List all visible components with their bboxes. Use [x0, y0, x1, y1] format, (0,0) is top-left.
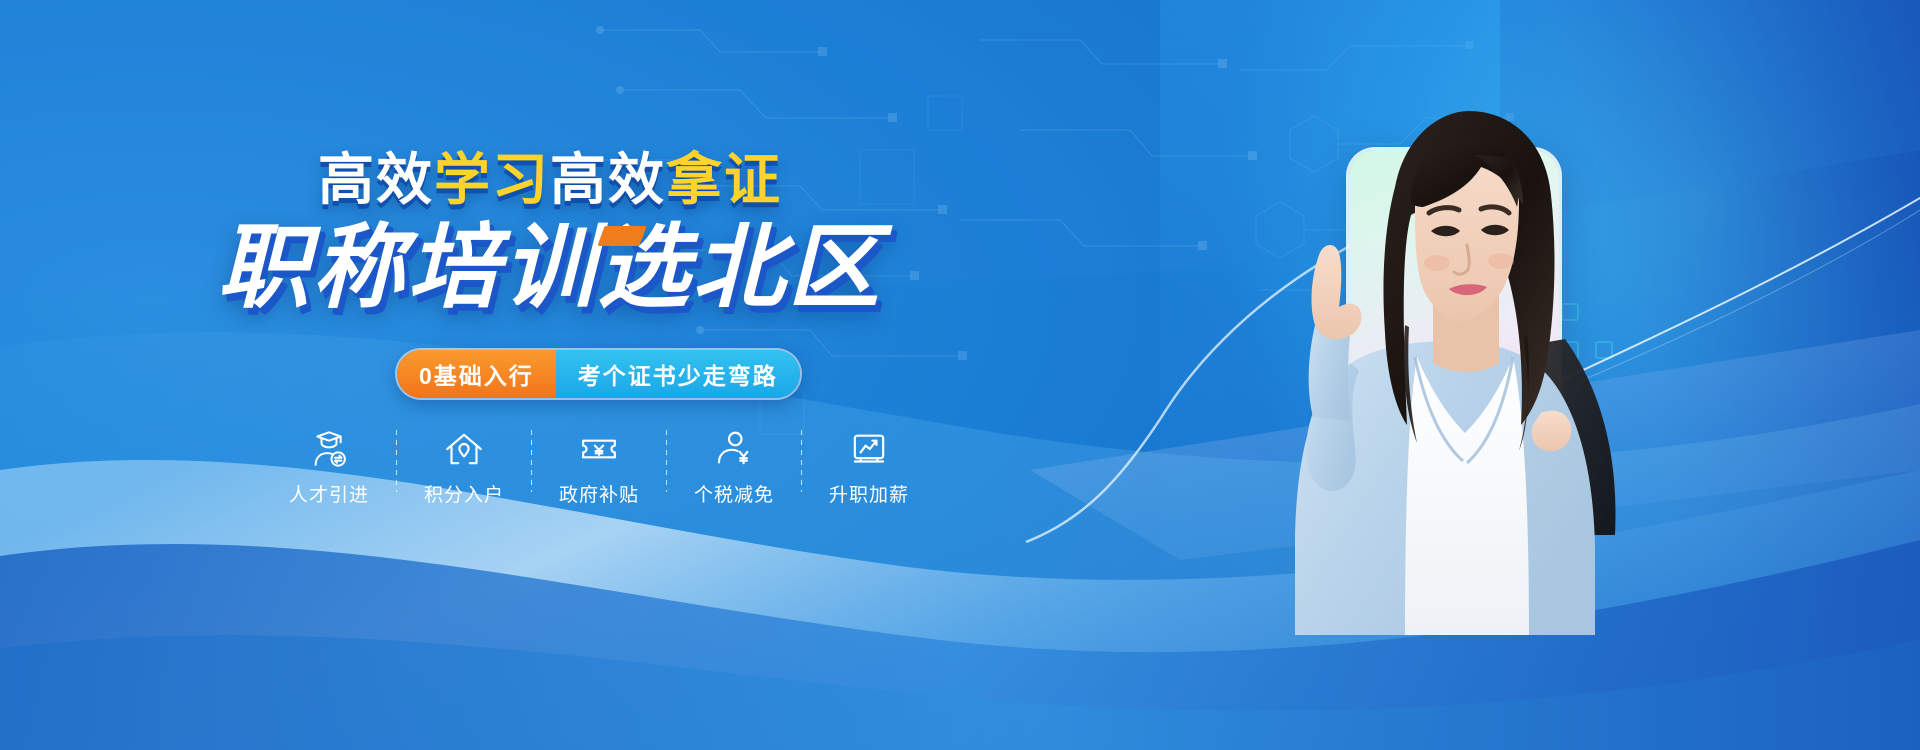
- graduate-person-icon: [308, 428, 350, 470]
- headline-seg-4: 拿证: [666, 148, 782, 211]
- pill-left-label: 0基础入行: [397, 350, 556, 398]
- house-pin-icon: [443, 428, 485, 470]
- voucher-yuan-icon: [578, 428, 620, 470]
- instructor-photo: [1255, 95, 1675, 635]
- subtitle-pill[interactable]: 0基础入行 考个证书少走弯路: [397, 350, 800, 398]
- pill-right-label: 考个证书少走弯路: [556, 350, 800, 398]
- headline-line2-wrap: 职称培训选北区: [0, 222, 1100, 314]
- promo-banner: 高效学习高效拿证 职称培训选北区 0基础入行 考个证书少走弯路: [0, 0, 1920, 750]
- feature-label: 升职加薪: [829, 480, 909, 507]
- feature-item-subsidy[interactable]: 政府补贴: [532, 428, 666, 507]
- feature-item-promotion[interactable]: 升职加薪: [802, 428, 936, 507]
- headline-seg-3: 高效: [550, 148, 666, 211]
- feature-label: 政府补贴: [559, 480, 639, 507]
- feature-item-residence[interactable]: 积分入户: [397, 428, 531, 507]
- feature-item-tax[interactable]: 个税减免: [667, 428, 801, 507]
- headline-seg-1: 高效: [318, 148, 434, 211]
- headline-line2: 职称培训选北区: [217, 222, 882, 314]
- feature-list: 人才引进 积分入户: [262, 428, 936, 507]
- growth-chart-board-icon: [848, 428, 890, 470]
- person-yuan-icon: [713, 428, 755, 470]
- headline-line1: 高效学习高效拿证: [0, 152, 1100, 208]
- feature-label: 人才引进: [289, 480, 369, 507]
- headline-seg-2: 学习: [434, 148, 550, 211]
- orange-accent-slash-icon: [598, 226, 647, 246]
- feature-label: 个税减免: [694, 480, 774, 507]
- banner-copy: 高效学习高效拿证 职称培训选北区 0基础入行 考个证书少走弯路: [0, 0, 1100, 750]
- headline-line2-text: 职称培训选北区: [217, 217, 882, 319]
- feature-item-talent[interactable]: 人才引进: [262, 428, 396, 507]
- feature-label: 积分入户: [424, 480, 504, 507]
